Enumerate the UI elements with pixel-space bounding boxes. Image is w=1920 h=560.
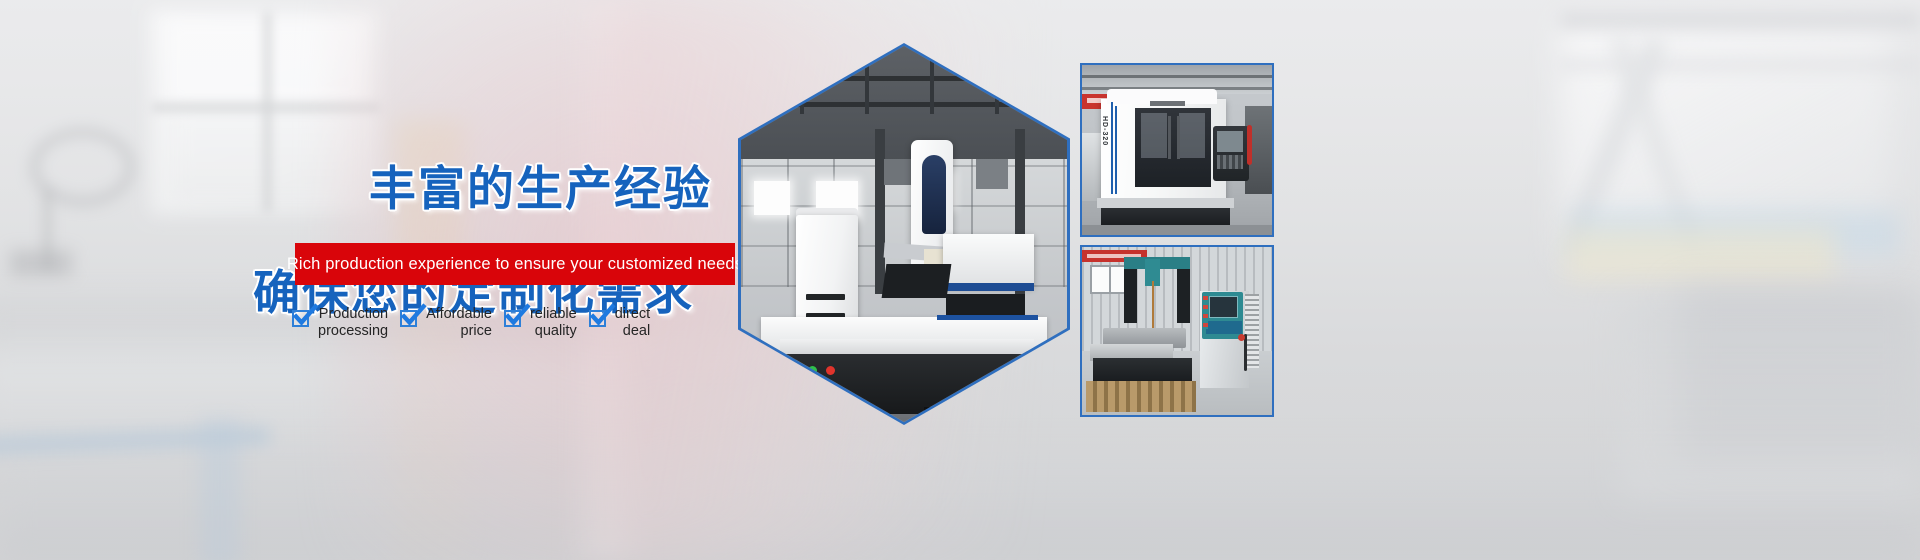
machine-photo-content [741, 46, 1067, 422]
checkbox-checked-icon[interactable] [589, 310, 606, 327]
subtitle-text: Rich production experience to ensure you… [287, 255, 743, 274]
promo-banner: 丰富的生产经验 确保您的定制化需求 Rich production experi… [0, 0, 1920, 560]
hexagon-machine-photo [738, 43, 1070, 425]
feature-item-production-processing[interactable]: Production processing [292, 303, 388, 340]
feature-label: reliable quality [530, 303, 577, 340]
checkbox-checked-icon[interactable] [504, 310, 521, 327]
feature-label: Affordable price [426, 303, 492, 340]
subtitle-bar: Rich production experience to ensure you… [295, 243, 735, 285]
checkbox-checked-icon[interactable] [400, 310, 417, 327]
feature-label: Production processing [318, 303, 388, 340]
feature-item-affordable-price[interactable]: Affordable price [400, 303, 492, 340]
feature-item-reliable-quality[interactable]: reliable quality [504, 303, 577, 340]
banner-copy: 丰富的生产经验 确保您的定制化需求 Rich production experi… [0, 0, 760, 560]
feature-list: Production processing Affordable price r… [292, 303, 762, 353]
machine-model-label: HD-320 [1101, 116, 1108, 146]
feature-label: direct deal [615, 303, 650, 340]
thumbnail-edm [1080, 245, 1274, 417]
checkbox-checked-icon[interactable] [292, 310, 309, 327]
thumbnail-hd320: HD-320 [1080, 63, 1274, 237]
feature-item-direct-deal[interactable]: direct deal [589, 303, 650, 340]
headline-line-1: 丰富的生产经验 [369, 162, 712, 217]
